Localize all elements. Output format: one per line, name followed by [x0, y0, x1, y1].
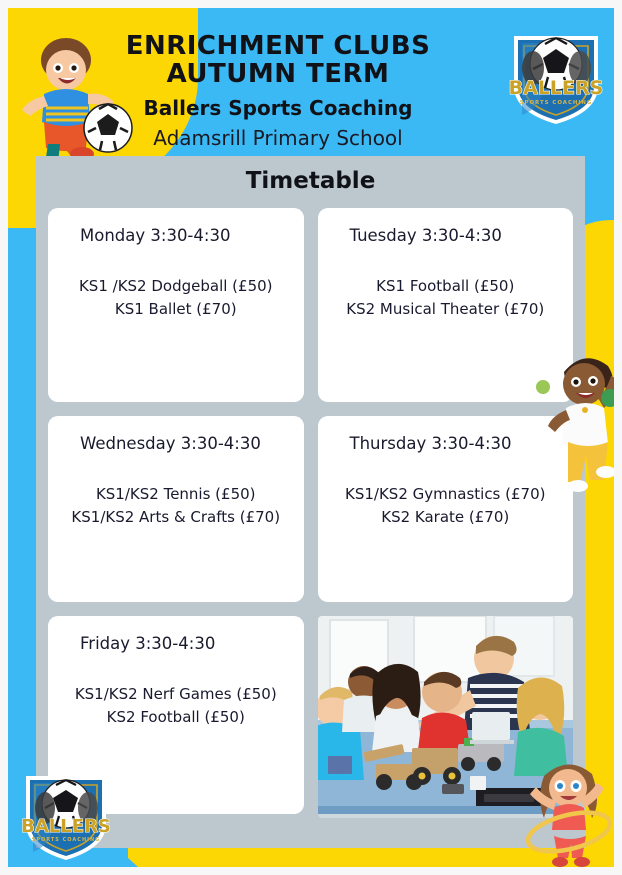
day-card-tuesday[interactable]: Tuesday 3:30-4:30 KS1 Football (£50) KS2… [318, 208, 574, 402]
club-entry: KS2 Karate (£70) [328, 506, 564, 529]
running-boy-illustration [548, 346, 614, 506]
school-name: Adamsrill Primary School [78, 126, 478, 150]
svg-text:BALLERS: BALLERS [509, 77, 604, 99]
club-entry: KS2 Football (£50) [58, 706, 294, 729]
day-card-title: Thursday 3:30-4:30 [328, 434, 564, 453]
poster-canvas: ENRICHMENT CLUBS AUTUMN TERM Ballers Spo… [8, 8, 614, 867]
club-entry: KS1/KS2 Tennis (£50) [58, 483, 294, 506]
ballers-logo-bottom-left: BALLERS SPORTS COACHING [14, 760, 118, 864]
club-entry: KS1 /KS2 Dodgeball (£50) [58, 275, 294, 298]
ballers-logo-top-right: BALLERS SPORTS COACHING [500, 16, 612, 128]
svg-text:BALLERS: BALLERS [21, 816, 111, 837]
day-card-wednesday[interactable]: Wednesday 3:30-4:30 KS1/KS2 Tennis (£50)… [48, 416, 304, 602]
organisation-name: Ballers Sports Coaching [78, 96, 478, 120]
timetable-heading: Timetable [36, 168, 585, 194]
timetable-row-3: Friday 3:30-4:30 KS1/KS2 Nerf Games (£50… [48, 616, 573, 818]
timetable-card-grid: Monday 3:30-4:30 KS1 /KS2 Dodgeball (£50… [48, 208, 573, 832]
timetable-panel: Timetable Monday 3:30-4:30 KS1 /KS2 Dodg… [36, 156, 585, 848]
club-entry: KS1 Ballet (£70) [58, 298, 294, 321]
timetable-row-1: Monday 3:30-4:30 KS1 /KS2 Dodgeball (£50… [48, 208, 573, 402]
club-entry: KS1/KS2 Nerf Games (£50) [58, 683, 294, 706]
day-card-thursday[interactable]: Thursday 3:30-4:30 KS1/KS2 Gymnastics (£… [318, 416, 574, 602]
club-entry: KS2 Musical Theater (£70) [328, 298, 564, 321]
day-card-title: Monday 3:30-4:30 [58, 226, 294, 245]
club-entry: KS1/KS2 Gymnastics (£70) [328, 483, 564, 506]
poster-title-line2: AUTUMN TERM [78, 60, 478, 88]
svg-text:SPORTS COACHING: SPORTS COACHING [32, 837, 101, 843]
svg-text:SPORTS COACHING: SPORTS COACHING [520, 100, 593, 106]
timetable-row-2: Wednesday 3:30-4:30 KS1/KS2 Tennis (£50)… [48, 416, 573, 602]
club-entry: KS1/KS2 Arts & Crafts (£70) [58, 506, 294, 529]
poster-title-line1: ENRICHMENT CLUBS [78, 32, 478, 60]
girl-hula-hoop-illustration [524, 758, 614, 867]
day-card-title: Friday 3:30-4:30 [58, 634, 294, 653]
day-card-monday[interactable]: Monday 3:30-4:30 KS1 /KS2 Dodgeball (£50… [48, 208, 304, 402]
day-card-title: Wednesday 3:30-4:30 [58, 434, 294, 453]
club-entry: KS1 Football (£50) [328, 275, 564, 298]
day-card-title: Tuesday 3:30-4:30 [328, 226, 564, 245]
